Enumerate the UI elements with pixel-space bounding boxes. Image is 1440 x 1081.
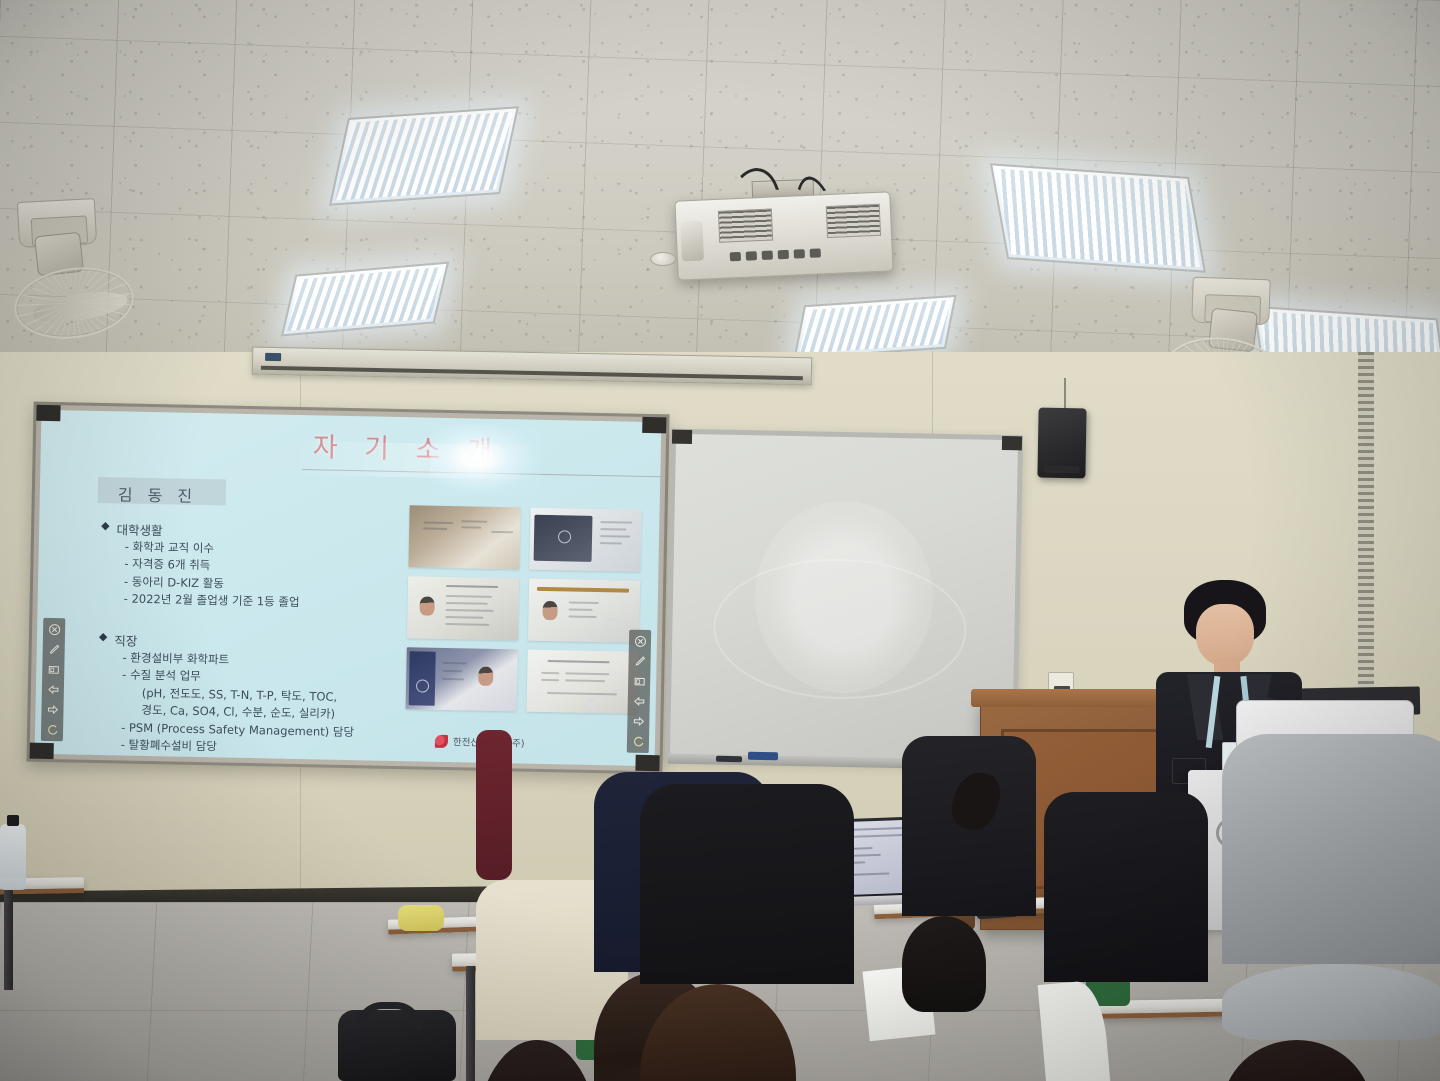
certificate-documents-photo xyxy=(408,505,520,569)
projector xyxy=(674,191,893,280)
presenter-name: 김 동 진 xyxy=(118,481,198,507)
arrow-right-icon[interactable] xyxy=(632,715,645,728)
desk-leg xyxy=(466,966,475,1081)
crop-icon[interactable] xyxy=(633,675,646,688)
whiteboard xyxy=(665,429,1023,766)
whiteboard-marker xyxy=(716,756,742,762)
whiteboard-corner xyxy=(1002,436,1022,450)
hair xyxy=(476,1040,598,1081)
student-ponytail-laptop xyxy=(902,736,1036,1012)
refresh-icon[interactable] xyxy=(45,723,58,736)
hair xyxy=(640,984,796,1081)
certificate-booklet-photo xyxy=(529,508,641,572)
water-bottle xyxy=(0,824,26,890)
screen-corner xyxy=(36,405,60,421)
section-heading-label: 대학생활 xyxy=(116,519,162,539)
overlay-toolbar-right[interactable] xyxy=(627,630,651,753)
overlay-toolbar-left[interactable] xyxy=(41,618,65,741)
arrow-left-icon[interactable] xyxy=(46,683,59,696)
presenter-face xyxy=(1196,604,1254,666)
yellow-pouch xyxy=(398,905,444,931)
pen-icon[interactable] xyxy=(633,655,646,668)
navy-certificate-booklet-photo xyxy=(406,647,518,711)
screen-corner xyxy=(635,755,659,771)
refresh-icon[interactable] xyxy=(631,735,644,748)
student-blonde-hair xyxy=(1044,792,1208,1081)
scarf xyxy=(476,730,512,880)
korea-institute-certificate-photo xyxy=(527,650,639,714)
national-technical-license-card-photo xyxy=(407,576,519,640)
hair xyxy=(1222,1040,1372,1081)
slide-bullets: ◆ 대학생활 - 화학과 교직 이수 - 자격증 6개 취득 - 동아리 D-K… xyxy=(96,519,431,766)
hood xyxy=(1222,964,1440,1040)
hair xyxy=(902,916,986,1012)
torso xyxy=(1222,734,1440,964)
projection-screen: 자 기 소 개 김 동 진 ◆ 대학생활 - 화학과 교직 이수 - 자격증 6… xyxy=(26,402,669,775)
speaker-wire xyxy=(1064,378,1066,410)
slide-title: 자 기 소 개 xyxy=(312,425,501,468)
smoke-detector xyxy=(650,252,676,266)
projector-lens xyxy=(680,221,704,262)
student-grey-hoodie xyxy=(1222,734,1440,1081)
title-divider xyxy=(302,469,661,477)
wall-speaker xyxy=(1037,408,1086,479)
screen-corner xyxy=(30,743,54,759)
close-circle-icon[interactable] xyxy=(47,623,60,636)
company-logo-icon xyxy=(435,734,448,747)
whiteboard-marker xyxy=(748,752,778,761)
pen-icon[interactable] xyxy=(47,643,60,656)
student-dark-top xyxy=(640,784,854,1081)
whiteboard-corner xyxy=(672,430,692,444)
section-heading-label: 직장 xyxy=(114,630,137,649)
ceiling-light xyxy=(990,163,1206,272)
white-shirt xyxy=(1038,979,1115,1081)
technical-qualification-card-photo xyxy=(528,579,640,643)
arrow-left-icon[interactable] xyxy=(632,695,645,708)
classroom-scene: 자 기 소 개 김 동 진 ◆ 대학생활 - 화학과 교직 이수 - 자격증 6… xyxy=(0,0,1440,1081)
backpack xyxy=(338,1010,456,1081)
close-circle-icon[interactable] xyxy=(633,635,646,648)
desk-leg xyxy=(4,890,13,990)
screen-corner xyxy=(642,417,666,433)
torso xyxy=(640,784,854,984)
housing-badge xyxy=(265,353,281,361)
diamond-bullet-icon: ◆ xyxy=(101,519,110,533)
projector-ports xyxy=(730,244,862,264)
presentation-slide: 자 기 소 개 김 동 진 ◆ 대학생활 - 화학과 교직 이수 - 자격증 6… xyxy=(35,410,662,766)
ceiling-light xyxy=(329,106,519,206)
torso xyxy=(1044,792,1208,982)
diamond-bullet-icon: ◆ xyxy=(99,630,108,644)
arrow-right-icon[interactable] xyxy=(46,703,59,716)
ceiling-light xyxy=(793,295,956,359)
navy-booklet xyxy=(409,651,436,706)
certificate-photo-grid xyxy=(406,505,642,714)
crop-icon[interactable] xyxy=(47,663,60,676)
